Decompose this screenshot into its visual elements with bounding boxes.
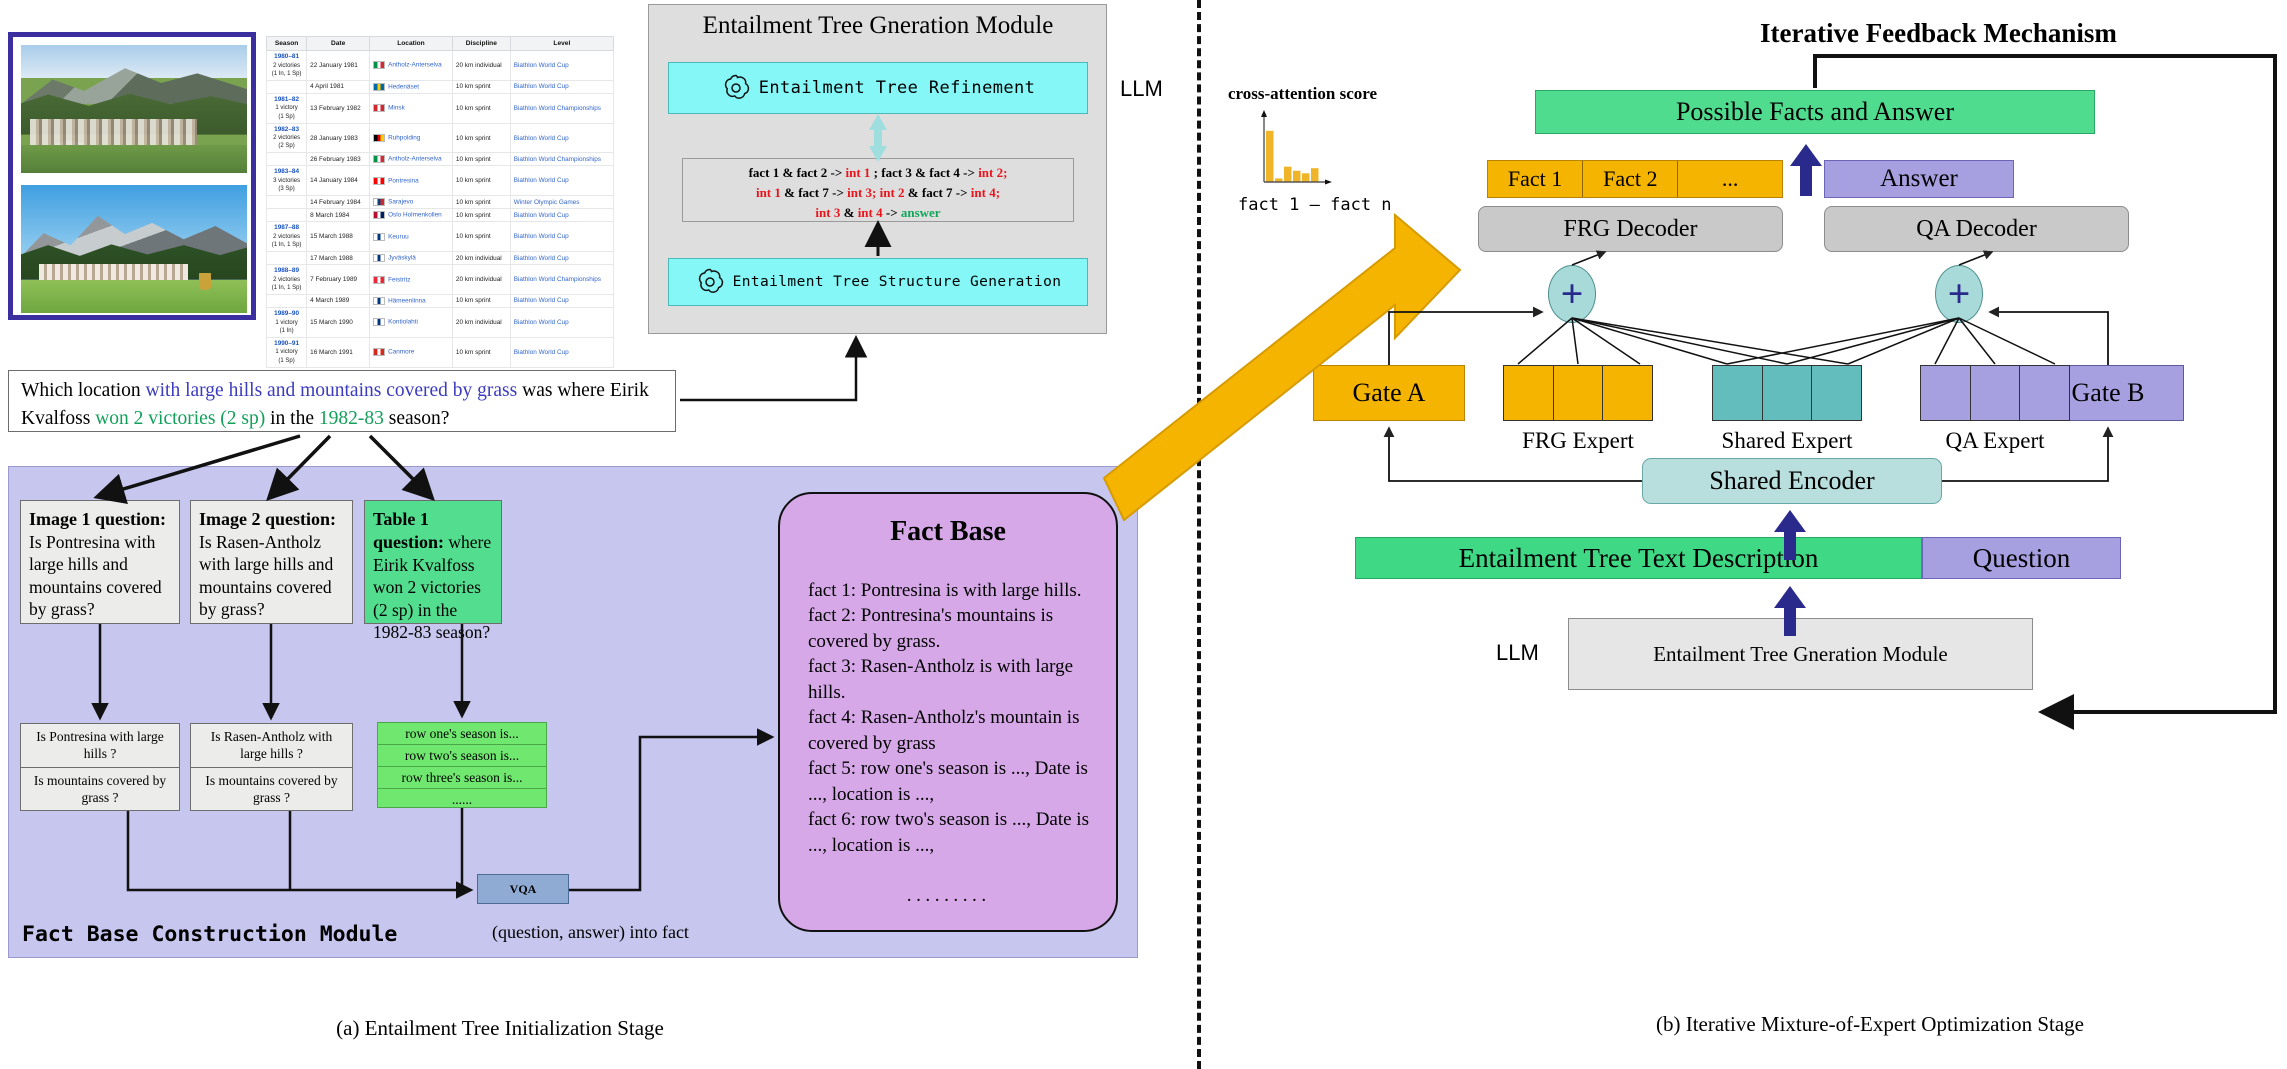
f3a: & xyxy=(840,205,857,220)
fact-item: fact 4: Rasen-Antholz's mountain is cove… xyxy=(808,705,1092,756)
cell-season: 1980–812 victories(1 In, 1 Sp) xyxy=(267,51,307,81)
flag-icon xyxy=(373,348,385,356)
flag-icon xyxy=(373,276,385,284)
cell-season xyxy=(267,252,307,265)
image-1-question-box: Image 1 question: Is Pontresina with lar… xyxy=(20,500,180,624)
cell-season: 1981–821 victory(1 Sp) xyxy=(267,93,307,123)
flag-icon xyxy=(373,233,385,241)
table-1-question-heading: Table 1 question: xyxy=(373,509,444,552)
cell-season: 1987–882 victories(1 In, 1 Sp) xyxy=(267,222,307,252)
sum-node-a: + xyxy=(1548,265,1596,323)
llm-label-top: LLM xyxy=(1120,76,1163,102)
cell-season xyxy=(267,153,307,166)
f3-int4: int 4 xyxy=(858,205,883,220)
chart-bar xyxy=(1302,173,1310,182)
col-date: Date xyxy=(307,37,370,51)
qa-decoder-box: QA Decoder xyxy=(1824,206,2129,252)
table-row: 1988–892 victories(1 In, 1 Sp)7 February… xyxy=(267,265,614,295)
fact-item: fact 5: row one's season is ..., Date is… xyxy=(808,756,1092,807)
frg-expert-blocks xyxy=(1503,365,1653,421)
fact-base-panel: Fact Base fact 1: Pontresina is with lar… xyxy=(778,492,1118,932)
cell-date: 14 February 1984 xyxy=(307,196,370,209)
cell-location: Antholz-Anterselva xyxy=(370,51,453,81)
cell-date: 26 February 1983 xyxy=(307,153,370,166)
cell-location: Sarajevo xyxy=(370,196,453,209)
fact-chip: Fact 1 xyxy=(1488,161,1583,197)
cell-level: Biathlon World Cup xyxy=(510,222,613,252)
image-2-rasen-antholz xyxy=(21,185,247,313)
cell-date: 17 March 1988 xyxy=(307,252,370,265)
cell-location: Kontiolahti xyxy=(370,307,453,337)
sub-question: Is Pontresina with large hills ? xyxy=(21,724,179,768)
question-text-blue: with large hills and mountains covered b… xyxy=(146,380,518,401)
cell-date: 22 January 1981 xyxy=(307,51,370,81)
cell-date: 7 February 1989 xyxy=(307,265,370,295)
expert-cell xyxy=(2020,366,2069,420)
f3-answer: answer xyxy=(901,205,941,220)
f2b: & fact 7 -> xyxy=(905,185,971,200)
expert-cell xyxy=(1971,366,2021,420)
cell-location: Canmore xyxy=(370,337,453,367)
image-2-question-box: Image 2 question: Is Rasen-Antholz with … xyxy=(190,500,353,624)
fact-base-construction-module-title: Fact Base Construction Module xyxy=(22,922,397,947)
col-level: Level xyxy=(510,37,613,51)
cell-date: 15 March 1990 xyxy=(307,307,370,337)
fact-base-ellipsis: ········· xyxy=(780,890,1116,912)
table-row: 1983–843 victories(3 Sp)14 January 1984P… xyxy=(267,166,614,196)
cell-level: Biathlon World Cup xyxy=(510,123,613,153)
entailment-tree-structure-generation-box[interactable]: Entailment Tree Structure Generation xyxy=(668,258,1088,306)
col-location: Location xyxy=(370,37,453,51)
formula-line-3: int 3 & int 4 -> answer xyxy=(683,203,1073,223)
cell-season: 1982–832 victories(2 Sp) xyxy=(267,123,307,153)
list-item: ...... xyxy=(378,789,546,810)
cell-date: 4 April 1981 xyxy=(307,80,370,93)
fact-item: fact 2: Pontresina's mountains is covere… xyxy=(808,603,1092,654)
col-discipline: Discipline xyxy=(452,37,510,51)
gate-a-box: Gate A xyxy=(1313,365,1465,421)
col-season: Season xyxy=(267,37,307,51)
sub-question: Is Rasen-Antholz with large hills ? xyxy=(191,724,352,768)
fact-item: fact 6: row two's season is ..., Date is… xyxy=(808,807,1092,858)
fact-chip-more: ... xyxy=(1678,161,1782,197)
photo1-meadow xyxy=(21,145,247,173)
flag-icon xyxy=(373,155,385,163)
sum-node-b: + xyxy=(1935,265,1983,323)
f1b: ; fact 3 & fact 4 -> xyxy=(870,165,978,180)
question-text-green2: 1982-83 xyxy=(319,408,384,429)
table-row: 26 February 1983Antholz-Anterselva10 km … xyxy=(267,153,614,166)
cell-location: Oslo Holmenkollen xyxy=(370,209,453,222)
flag-icon xyxy=(373,134,385,142)
cell-level: Biathlon World Championships xyxy=(510,93,613,123)
cell-discipline: 20 km individual xyxy=(452,307,510,337)
cell-date: 14 January 1984 xyxy=(307,166,370,196)
table-row: 4 March 1989Hämeenlinna10 km sprintBiath… xyxy=(267,294,614,307)
formula-line-1: fact 1 & fact 2 -> int 1 ; fact 3 & fact… xyxy=(683,163,1073,183)
cell-date: 4 March 1989 xyxy=(307,294,370,307)
table-row: 1989–901 victory(1 In)15 March 1990Konti… xyxy=(267,307,614,337)
f2-int1: int 1 xyxy=(756,185,781,200)
table-header-row: Season Date Location Discipline Level xyxy=(267,37,614,51)
flag-icon xyxy=(373,254,385,262)
entailment-formula-box: fact 1 & fact 2 -> int 1 ; fact 3 & fact… xyxy=(682,158,1074,222)
cell-date: 15 March 1988 xyxy=(307,222,370,252)
iterative-feedback-mechanism-title: Iterative Feedback Mechanism xyxy=(1760,18,2117,49)
cell-level: Biathlon World Cup xyxy=(510,209,613,222)
fact-item: fact 1: Pontresina is with large hills. xyxy=(808,578,1092,603)
cross-attention-score-label: cross-attention score xyxy=(1228,84,1377,104)
etsg-label: Entailment Tree Structure Generation xyxy=(733,274,1062,290)
flag-icon xyxy=(373,104,385,112)
cell-level: Biathlon World Cup xyxy=(510,80,613,93)
cell-season xyxy=(267,80,307,93)
entailment-tree-generation-module-bottom: Entailment Tree Gneration Module xyxy=(1568,618,2033,690)
f2-int4: int 4; xyxy=(971,185,1000,200)
flag-icon xyxy=(373,61,385,69)
chart-bar xyxy=(1293,171,1301,182)
entailment-tree-text-description-box: Entailment Tree Text Description xyxy=(1355,537,1922,579)
question-text-1: Which location xyxy=(21,380,146,401)
cell-date: 28 January 1983 xyxy=(307,123,370,153)
expert-cell xyxy=(1603,366,1652,420)
fact-base-title: Fact Base xyxy=(780,516,1116,548)
photo2-grass xyxy=(21,280,247,313)
image-2-question-body: Is Rasen-Antholz with large hills and mo… xyxy=(199,532,333,619)
plus-icon: + xyxy=(1948,274,1971,314)
cross-attention-bar-chart xyxy=(1250,110,1380,190)
f3-int3: int 3 xyxy=(815,205,840,220)
f1-int2: int 2; xyxy=(978,165,1007,180)
openai-logo-icon xyxy=(695,267,725,297)
fact-chip: Fact 2 xyxy=(1583,161,1678,197)
list-item: row one's season is... xyxy=(378,723,546,745)
cell-season xyxy=(267,294,307,307)
flag-icon xyxy=(373,318,385,326)
cell-season: 1989–901 victory(1 In) xyxy=(267,307,307,337)
cell-date: 13 February 1982 xyxy=(307,93,370,123)
flag-icon xyxy=(373,198,385,206)
expert-cell xyxy=(1763,366,1813,420)
etr-label: Entailment Tree Refinement xyxy=(759,78,1036,98)
cell-location: Feistritz xyxy=(370,265,453,295)
cell-discipline: 10 km sprint xyxy=(452,153,510,166)
cell-level: Biathlon World Championships xyxy=(510,265,613,295)
table-1-question-box: Table 1 question: where Eirik Kvalfoss w… xyxy=(364,500,502,624)
caption-b: (b) Iterative Mixture-of-Expert Optimiza… xyxy=(1470,1012,2270,1037)
table-row: 1990–911 victory(1 Sp)16 March 1991Canmo… xyxy=(267,337,614,367)
fact-item: fact 3: Rasen-Antholz is with large hill… xyxy=(808,654,1092,705)
cell-discipline: 20 km individual xyxy=(452,252,510,265)
cell-level: Biathlon World Cup xyxy=(510,166,613,196)
flag-icon xyxy=(373,177,385,185)
frg-expert-label: FRG Expert xyxy=(1478,428,1678,454)
table-row: 1981–821 victory(1 Sp)13 February 1982Mi… xyxy=(267,93,614,123)
cell-location: Pontresina xyxy=(370,166,453,196)
cell-date: 16 March 1991 xyxy=(307,337,370,367)
caption-a: (a) Entailment Tree Initialization Stage xyxy=(150,1016,850,1041)
shared-encoder-box: Shared Encoder xyxy=(1642,458,1942,504)
cell-discipline: 10 km sprint xyxy=(452,222,510,252)
f3b: -> xyxy=(883,205,901,220)
f1-int1: int 1 xyxy=(846,165,871,180)
possible-facts-and-answer-box: Possible Facts and Answer xyxy=(1535,90,2095,134)
shared-expert-blocks xyxy=(1712,365,1862,421)
cell-discipline: 20 km individual xyxy=(452,51,510,81)
expert-cell xyxy=(1812,366,1861,420)
qa-expert-label: QA Expert xyxy=(1895,428,2095,454)
frg-decoder-box: FRG Decoder xyxy=(1478,206,1783,252)
image-2-sub-questions: Is Rasen-Antholz with large hills ? Is m… xyxy=(190,723,353,811)
cell-level: Biathlon World Cup xyxy=(510,51,613,81)
etg-module-title: Entailment Tree Gneration Module xyxy=(676,12,1080,40)
flag-icon xyxy=(373,297,385,305)
cell-season: 1983–843 victories(3 Sp) xyxy=(267,166,307,196)
cell-discipline: 10 km sprint xyxy=(452,196,510,209)
cell-level: Biathlon World Championships xyxy=(510,153,613,166)
table-row: 4 April 1981Hedenäset10 km sprintBiathlo… xyxy=(267,80,614,93)
f2a: & fact 7 -> xyxy=(781,185,847,200)
qa-expert-blocks xyxy=(1920,365,2070,421)
formula-line-2: int 1 & fact 7 -> int 3; int 2 & fact 7 … xyxy=(683,183,1073,203)
chart-bar xyxy=(1284,167,1292,182)
cell-discipline: 10 km sprint xyxy=(452,166,510,196)
table-row-facts-box: row one's season is... row two's season … xyxy=(377,722,547,808)
plus-icon: + xyxy=(1561,274,1584,314)
question-answer-into-fact-label: (question, answer) into fact xyxy=(492,922,689,943)
shared-expert-label: Shared Expert xyxy=(1687,428,1887,454)
vqa-module-box[interactable]: VQA xyxy=(477,874,569,904)
cell-location: Ruhpolding xyxy=(370,123,453,153)
image-1-question-heading: Image 1 question: xyxy=(29,509,166,529)
cell-location: Antholz-Anterselva xyxy=(370,153,453,166)
chart-bar xyxy=(1266,131,1274,182)
image-1-pontresina xyxy=(21,45,247,173)
f2-int3: int 3; xyxy=(847,185,876,200)
cell-location: Minsk xyxy=(370,93,453,123)
sub-question: Is mountains covered by grass ? xyxy=(191,768,352,811)
cell-location: Hedenäset xyxy=(370,80,453,93)
f2-int2: int 2 xyxy=(876,185,904,200)
table-row: 1987–882 victories(1 In, 1 Sp)15 March 1… xyxy=(267,222,614,252)
biathlon-results-table: Season Date Location Discipline Level 19… xyxy=(266,36,614,368)
question-box: Which location with large hills and moun… xyxy=(8,370,676,432)
cell-season: 1988–892 victories(1 In, 1 Sp) xyxy=(267,265,307,295)
cross-attention-chart-svg xyxy=(1250,110,1380,190)
cell-level: Biathlon World Cup xyxy=(510,307,613,337)
entailment-tree-refinement-box[interactable]: Entailment Tree Refinement xyxy=(668,62,1088,114)
table-row: 8 March 1984Oslo Holmenkollen10 km sprin… xyxy=(267,209,614,222)
question-text-3: in the xyxy=(265,408,319,429)
images-frame xyxy=(8,32,256,320)
table-row: 14 February 1984Sarajevo10 km sprintWint… xyxy=(267,196,614,209)
cell-discipline: 10 km sprint xyxy=(452,93,510,123)
table-row: 17 March 1988Jyväskylä20 km individualBi… xyxy=(267,252,614,265)
cell-season xyxy=(267,196,307,209)
flag-icon xyxy=(373,211,385,219)
llm-label-bottom: LLM xyxy=(1496,640,1539,666)
cell-discipline: 10 km sprint xyxy=(452,80,510,93)
cell-discipline: 10 km sprint xyxy=(452,294,510,307)
table-row: 1982–832 victories(2 Sp)28 January 1983R… xyxy=(267,123,614,153)
image-1-sub-questions: Is Pontresina with large hills ? Is moun… xyxy=(20,723,180,811)
cell-discipline: 10 km sprint xyxy=(452,209,510,222)
photo2-tree xyxy=(199,273,211,295)
list-item: row three's season is... xyxy=(378,767,546,789)
cell-level: Biathlon World Cup xyxy=(510,294,613,307)
question-text-green1: won 2 victories (2 sp) xyxy=(95,408,265,429)
chart-bar xyxy=(1311,168,1319,182)
cell-location: Keuruu xyxy=(370,222,453,252)
cell-location: Jyväskylä xyxy=(370,252,453,265)
expert-cell xyxy=(1504,366,1554,420)
fact-chips-strip: Fact 1 Fact 2 ... xyxy=(1487,160,1783,198)
f1a: fact 1 & fact 2 -> xyxy=(749,165,846,180)
image-1-question-body: Is Pontresina with large hills and mount… xyxy=(29,532,162,619)
image-2-question-heading: Image 2 question: xyxy=(199,509,336,529)
cell-discipline: 20 km individual xyxy=(452,265,510,295)
cell-location: Hämeenlinna xyxy=(370,294,453,307)
cell-level: Biathlon World Cup xyxy=(510,252,613,265)
cell-level: Biathlon World Cup xyxy=(510,337,613,367)
expert-cell xyxy=(1921,366,1971,420)
question-text-4: season? xyxy=(384,408,450,429)
sub-question: Is mountains covered by grass ? xyxy=(21,768,179,811)
panel-divider xyxy=(1197,0,1201,1069)
photo2-village xyxy=(39,264,188,279)
expert-cell xyxy=(1554,366,1604,420)
fact-base-list: fact 1: Pontresina is with large hills.f… xyxy=(808,578,1092,858)
answer-box: Answer xyxy=(1824,160,2014,198)
cell-season: 1990–911 victory(1 Sp) xyxy=(267,337,307,367)
openai-logo-icon xyxy=(721,73,751,103)
cell-date: 8 March 1984 xyxy=(307,209,370,222)
cell-discipline: 10 km sprint xyxy=(452,123,510,153)
flag-icon xyxy=(373,83,385,91)
cell-season xyxy=(267,209,307,222)
cell-discipline: 10 km sprint xyxy=(452,337,510,367)
cross-attention-x-axis-label: fact 1 – fact n xyxy=(1238,195,1392,215)
list-item: row two's season is... xyxy=(378,745,546,767)
table-row: 1980–812 victories(1 In, 1 Sp)22 January… xyxy=(267,51,614,81)
cell-level: Winter Olympic Games xyxy=(510,196,613,209)
question-chip: Question xyxy=(1922,537,2121,579)
expert-cell xyxy=(1713,366,1763,420)
